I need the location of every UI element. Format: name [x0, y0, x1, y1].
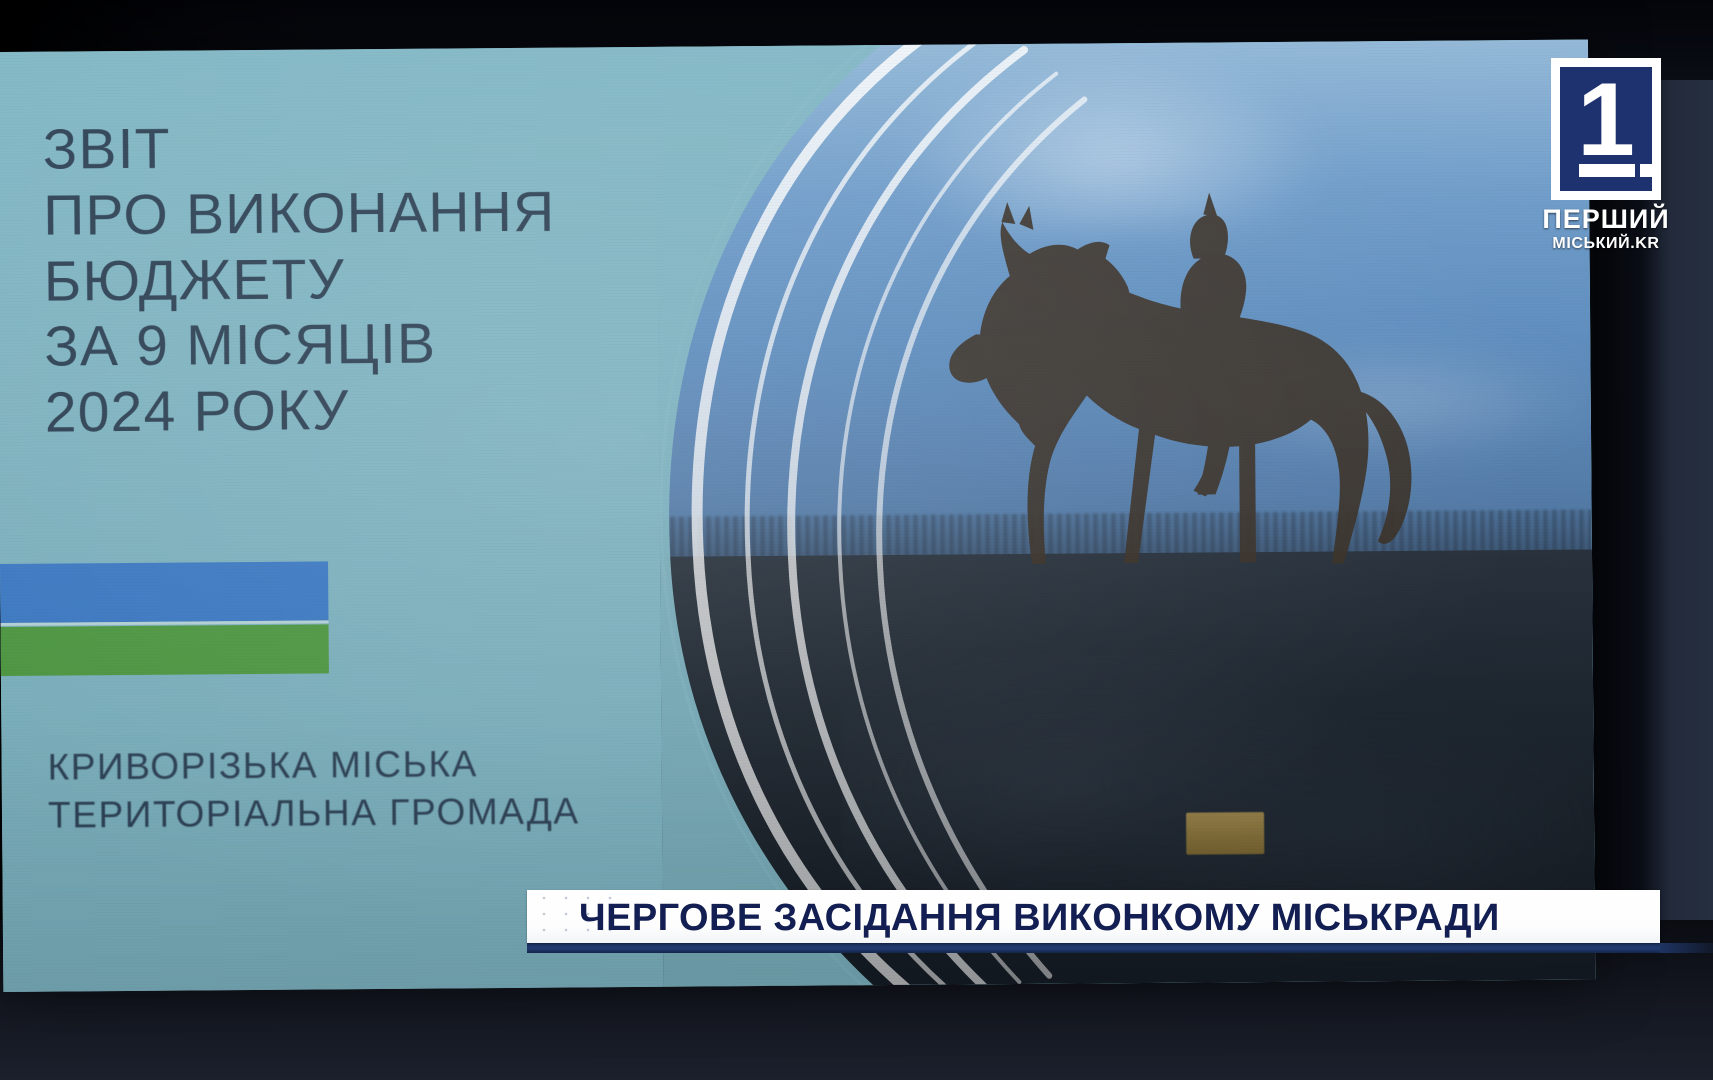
flag-stripe-green	[0, 624, 329, 676]
logo-square-icon: 1	[1560, 67, 1652, 191]
broadcast-frame: ЗВІТ ПРО ВИКОНАННЯ БЮДЖЕТУ ЗА 9 МІСЯЦІВ …	[0, 0, 1713, 1080]
slide-photo	[656, 39, 1595, 986]
channel-subname: МІСЬКИЙ.KR	[1521, 236, 1691, 252]
slide-title-block: ЗВІТ ПРО ВИКОНАННЯ БЮДЖЕТУ ЗА 9 МІСЯЦІВ …	[43, 112, 706, 446]
channel-logo: 1 ПЕРШИЙ МІСЬКИЙ.KR	[1521, 58, 1691, 252]
city-flag-icon	[0, 561, 329, 676]
projection-screen: ЗВІТ ПРО ВИКОНАННЯ БЮДЖЕТУ ЗА 9 МІСЯЦІВ …	[0, 39, 1595, 991]
lower-third-banner: ЧЕРГОВЕ ЗАСІДАННЯ ВИКОНКОМУ МІСЬКРАДИ	[527, 890, 1660, 953]
channel-name: ПЕРШИЙ	[1521, 206, 1691, 233]
lower-third-accent-bar-extension	[1660, 943, 1713, 953]
lower-third-accent-bar	[527, 943, 1660, 953]
logo-dot	[1640, 164, 1653, 177]
brush-stroke-arc	[656, 39, 1264, 986]
page-title: ЗВІТ ПРО ВИКОНАННЯ БЮДЖЕТУ ЗА 9 МІСЯЦІВ …	[43, 112, 706, 446]
slide-subtitle: КРИВОРІЗЬКА МІСЬКА ТЕРИТОРІАЛЬНА ГРОМАДА	[47, 738, 728, 840]
logo-frame: 1	[1551, 58, 1661, 200]
logo-underline-bar	[1579, 164, 1635, 177]
lower-third-headline: ЧЕРГОВЕ ЗАСІДАННЯ ВИКОНКОМУ МІСЬКРАДИ	[579, 899, 1500, 937]
logo-number: 1	[1560, 73, 1652, 169]
flag-stripe-blue	[0, 561, 328, 623]
lower-third-plate: ЧЕРГОВЕ ЗАСІДАННЯ ВИКОНКОМУ МІСЬКРАДИ	[527, 890, 1660, 943]
slide-surface: ЗВІТ ПРО ВИКОНАННЯ БЮДЖЕТУ ЗА 9 МІСЯЦІВ …	[0, 39, 1595, 991]
